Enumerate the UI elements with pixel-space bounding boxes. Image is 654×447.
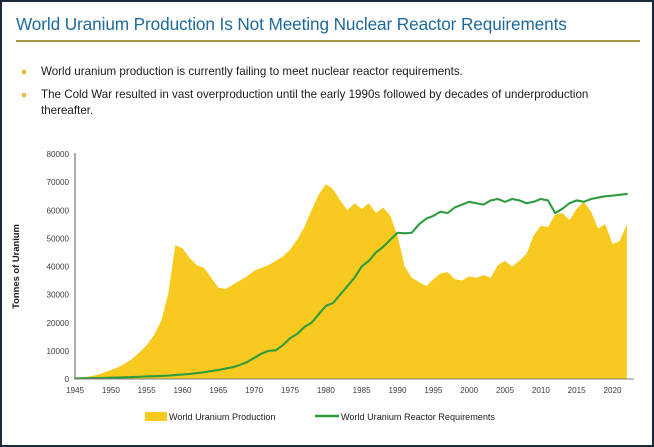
chart-svg: 0100002000030000400005000060000700008000…: [2, 142, 654, 447]
y-axis-tick-label: 60000: [46, 206, 69, 215]
x-axis-tick-label: 2005: [496, 386, 515, 395]
y-axis-tick-label: 20000: [46, 319, 69, 328]
legend-swatch-production: [145, 412, 167, 421]
x-axis-tick-label: 1970: [245, 386, 264, 395]
x-axis-tick-label: 1980: [317, 386, 336, 395]
bullet-square-icon: [22, 70, 26, 74]
y-axis-tick-label: 50000: [46, 234, 69, 243]
x-axis-tick-label: 2020: [603, 386, 622, 395]
x-axis-tick-label: 2010: [532, 386, 551, 395]
list-item: The Cold War resulted in vast overproduc…: [20, 87, 632, 119]
bullet-text: The Cold War resulted in vast overproduc…: [41, 87, 609, 119]
x-axis-tick-label: 1990: [388, 386, 407, 395]
bullet-list: World uranium production is currently fa…: [20, 64, 632, 126]
slide-container: World Uranium Production Is Not Meeting …: [0, 0, 654, 447]
x-axis-tick-label: 1950: [102, 386, 121, 395]
y-axis-tick-label: 70000: [46, 178, 69, 187]
chart-legend: World Uranium ProductionWorld Uranium Re…: [145, 412, 495, 422]
x-axis-tick-label: 1955: [138, 386, 157, 395]
bullet-square-icon: [22, 93, 26, 97]
x-axis-tick-label: 1965: [209, 386, 228, 395]
x-axis-tick-labels: 1945195019551960196519701975198019851990…: [66, 386, 622, 395]
y-axis-tick-label: 40000: [46, 263, 69, 272]
y-axis-tick-label: 0: [64, 375, 69, 384]
y-axis-tick-label: 30000: [46, 291, 69, 300]
y-axis-tick-label: 80000: [46, 150, 69, 159]
page-title: World Uranium Production Is Not Meeting …: [16, 14, 640, 36]
y-axis-tick-label: 10000: [46, 347, 69, 356]
y-axis-title: Tonnes of Uranium: [10, 224, 21, 309]
y-axis-title-label: Tonnes of Uranium: [10, 224, 21, 309]
legend-label-requirements: World Uranium Reactor Requirements: [341, 412, 495, 422]
bullet-text: World uranium production is currently fa…: [41, 64, 463, 80]
x-axis-tick-label: 1975: [281, 386, 300, 395]
title-underline-divider: [16, 40, 640, 42]
title-block: World Uranium Production Is Not Meeting …: [16, 14, 640, 42]
uranium-chart: 0100002000030000400005000060000700008000…: [2, 142, 654, 447]
legend-label-production: World Uranium Production: [169, 412, 275, 422]
x-axis-tick-label: 2015: [568, 386, 587, 395]
x-axis-tick-label: 1995: [424, 386, 443, 395]
y-axis-tick-labels: 0100002000030000400005000060000700008000…: [46, 150, 69, 384]
x-axis-tick-label: 2000: [460, 386, 479, 395]
x-axis-tick-label: 1960: [173, 386, 192, 395]
x-axis-tick-label: 1985: [353, 386, 372, 395]
x-axis-tick-label: 1945: [66, 386, 85, 395]
list-item: World uranium production is currently fa…: [20, 64, 632, 80]
plot-series-group: [75, 184, 627, 379]
